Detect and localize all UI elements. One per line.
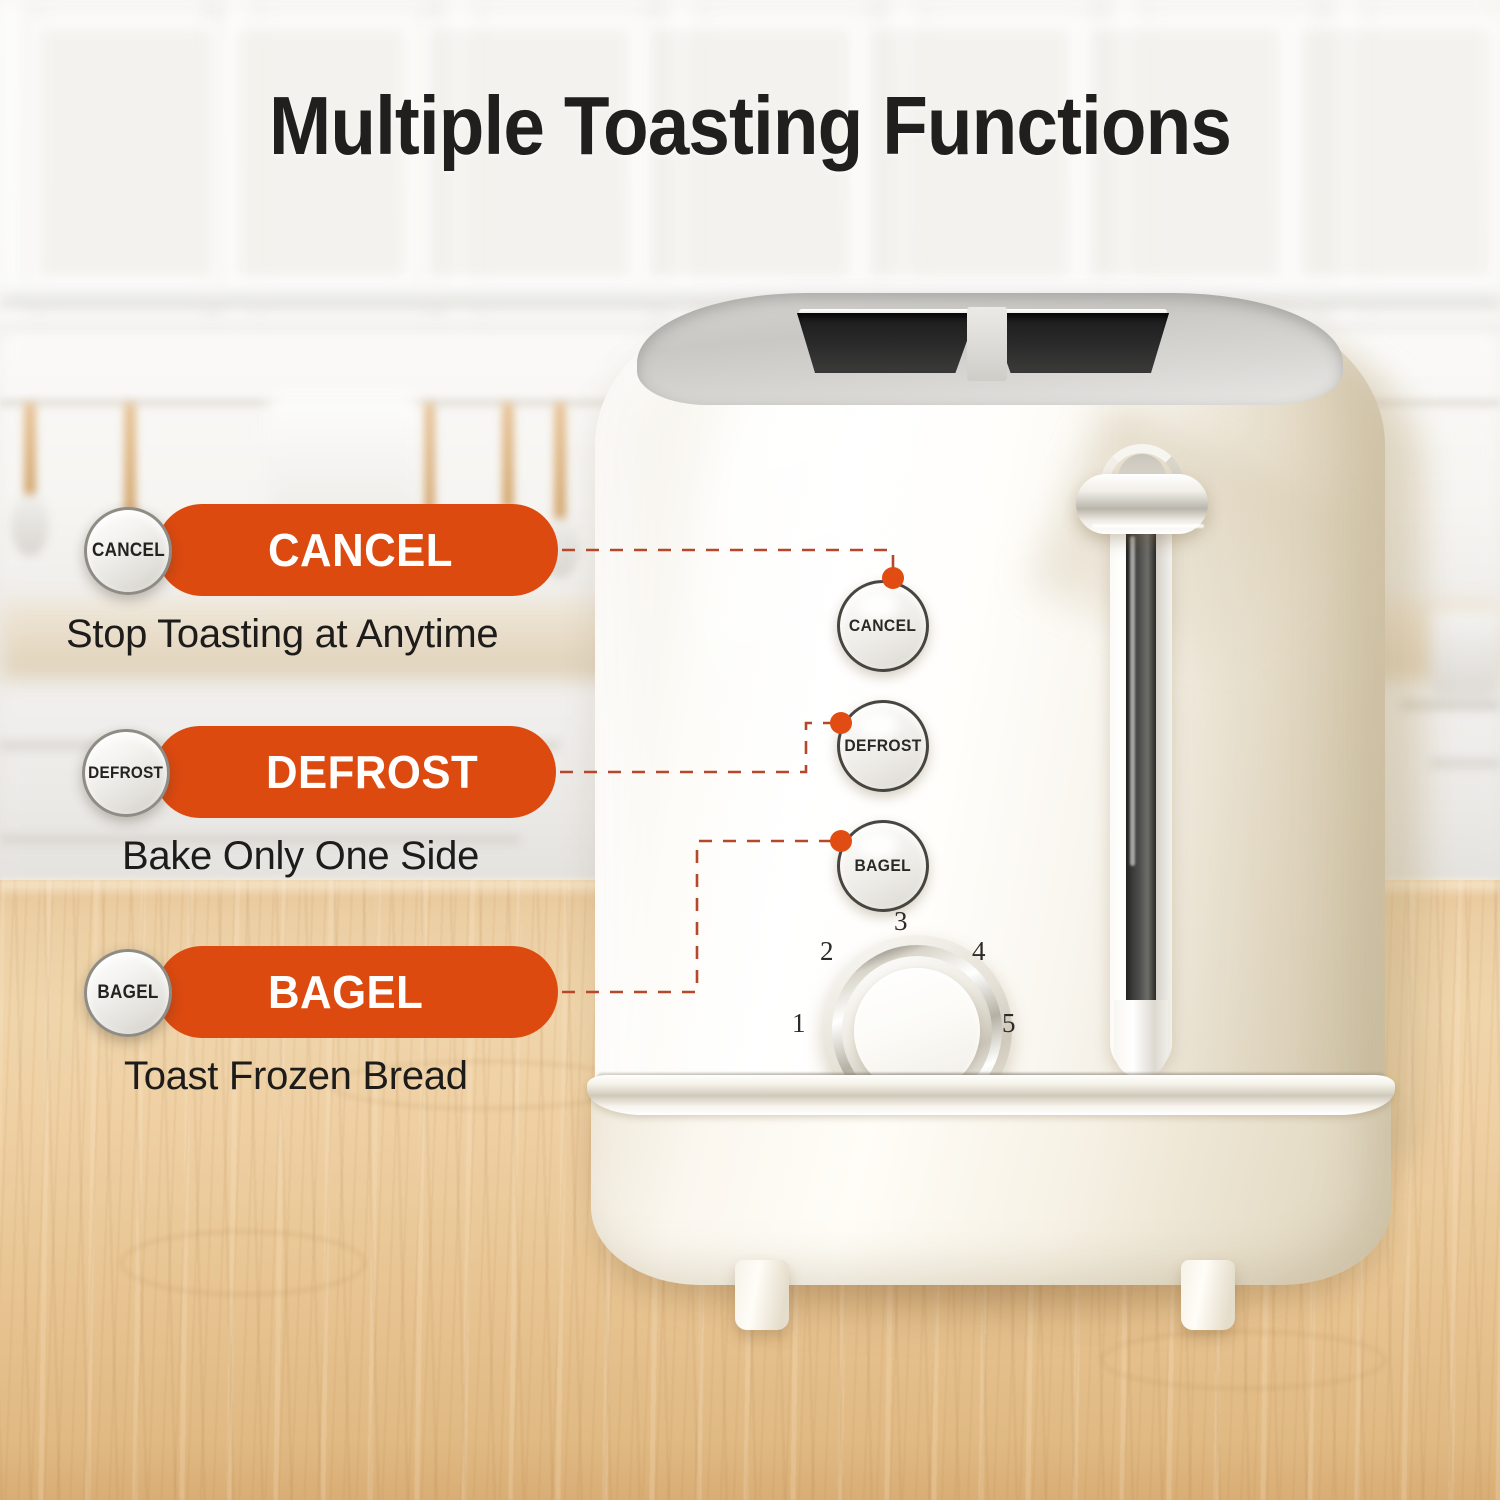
body-specular-spot — [840, 415, 868, 461]
toaster-button-bagel-label: BAGEL — [855, 856, 912, 876]
callout-bagel-title: BAGEL — [268, 965, 423, 1019]
dial-setting-3: 3 — [894, 906, 908, 937]
callout-cancel-button-label: CANCEL — [92, 540, 165, 562]
chrome-trim-band — [587, 1075, 1395, 1115]
callout-bagel-button-label: BAGEL — [97, 982, 158, 1004]
callout-cancel-pill[interactable]: CANCEL — [156, 504, 558, 596]
toaster-foot-left — [735, 1260, 789, 1330]
wood-knot — [120, 1230, 366, 1296]
callout-defrost-button-label: DEFROST — [89, 763, 164, 783]
callout-bagel-pill[interactable]: BAGEL — [156, 946, 558, 1038]
toaster-button-defrost[interactable]: DEFROST — [837, 700, 929, 792]
callout-defrost-button-icon: DEFROST — [82, 729, 170, 817]
toaster-base — [591, 1085, 1391, 1285]
dial-setting-5: 5 — [1002, 1008, 1016, 1039]
toaster-button-cancel-label: CANCEL — [849, 616, 916, 636]
bread-slot-right[interactable] — [989, 313, 1169, 373]
toaster-top-deck — [637, 293, 1343, 405]
toaster-button-bagel[interactable]: BAGEL — [837, 820, 929, 912]
lever-cap-highlight — [1092, 524, 1204, 528]
callout-defrost-pill[interactable]: DEFROST — [154, 726, 556, 818]
callout-cancel-button-icon: CANCEL — [84, 507, 172, 595]
toaster-product-image: CANCEL DEFROST BAGEL 1 2 3 4 5 6 REHEAT — [545, 285, 1405, 1315]
toaster-lever[interactable] — [1070, 440, 1220, 1080]
infographic-canvas: Multiple Toasting Functions — [0, 0, 1500, 1500]
bread-slot-left[interactable] — [797, 313, 977, 373]
lever-slot-highlight — [1130, 536, 1135, 866]
dial-setting-1: 1 — [792, 1008, 806, 1039]
dial-setting-4: 4 — [972, 936, 986, 967]
callout-defrost-title: DEFROST — [266, 745, 478, 799]
hanging-utensil — [10, 402, 50, 562]
toaster-button-defrost-label: DEFROST — [844, 736, 921, 756]
lever-handle-cap[interactable] — [1076, 474, 1208, 534]
dial-setting-2: 2 — [820, 936, 834, 967]
callout-defrost-description: Bake Only One Side — [122, 834, 479, 879]
lever-track-bottom — [1114, 1000, 1168, 1078]
cabinet-seam — [1430, 760, 1500, 767]
callout-cancel-description: Stop Toasting at Anytime — [66, 612, 498, 657]
callout-cancel-title: CANCEL — [268, 523, 453, 577]
wood-knot — [1100, 1330, 1386, 1390]
callout-bagel-description: Toast Frozen Bread — [124, 1054, 468, 1099]
toaster-foot-right — [1181, 1260, 1235, 1330]
toaster-button-cancel[interactable]: CANCEL — [837, 580, 929, 672]
slot-divider — [967, 307, 1007, 381]
page-title: Multiple Toasting Functions — [75, 78, 1425, 174]
callout-bagel-button-icon: BAGEL — [84, 949, 172, 1037]
